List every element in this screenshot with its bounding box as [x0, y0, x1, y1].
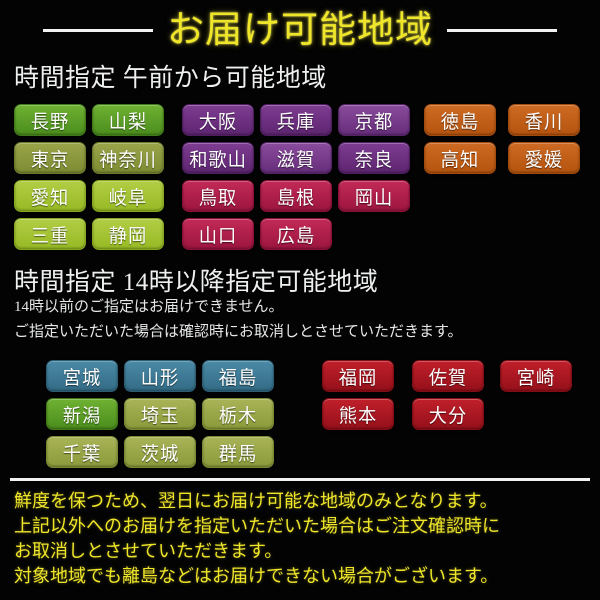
page-title: お届け可能地域 [167, 12, 433, 49]
prefecture-button[interactable]: 佐賀 [412, 360, 484, 392]
prefecture-button[interactable]: 高知 [424, 142, 496, 174]
prefecture-label: 大分 [429, 401, 467, 428]
prefecture-label: 神奈川 [99, 145, 157, 172]
prefecture-label: 山梨 [109, 107, 147, 134]
footer-line-1: 鮮度を保つため、翌日にお届け可能な地域のみとなります。 [14, 487, 498, 513]
prefecture-button[interactable]: 島根 [260, 180, 332, 212]
prefecture-label: 岡山 [355, 183, 393, 210]
prefecture-label: 新潟 [63, 401, 101, 428]
prefecture-button[interactable]: 奈良 [338, 142, 410, 174]
prefecture-button[interactable]: 山形 [124, 360, 196, 392]
footer-line-3: お取消しとさせていただきます。 [14, 537, 282, 563]
prefecture-button[interactable]: 兵庫 [260, 104, 332, 136]
prefecture-label: 栃木 [219, 401, 257, 428]
prefecture-label: 山口 [199, 221, 237, 248]
prefecture-button[interactable]: 大分 [412, 398, 484, 430]
prefecture-button[interactable]: 広島 [260, 218, 332, 250]
prefecture-label: 広島 [277, 221, 315, 248]
prefecture-label: 徳島 [441, 107, 479, 134]
prefecture-button[interactable]: 新潟 [46, 398, 118, 430]
prefecture-label: 高知 [441, 145, 479, 172]
prefecture-label: 長野 [31, 107, 69, 134]
prefecture-button[interactable]: 静岡 [92, 218, 164, 250]
prefecture-button[interactable]: 神奈川 [92, 142, 164, 174]
prefecture-button[interactable]: 京都 [338, 104, 410, 136]
prefecture-button[interactable]: 岐阜 [92, 180, 164, 212]
prefecture-label: 茨城 [141, 439, 179, 466]
section-2-note-2: ご指定いただいた場合は確認時にお取消しとさせていただきます。 [14, 320, 463, 341]
prefecture-label: 静岡 [109, 221, 147, 248]
prefecture-label: 宮城 [63, 363, 101, 390]
prefecture-label: 東京 [31, 145, 69, 172]
delivery-area-graphic: お届け可能地域 時間指定 午前から可能地域 時間指定 14時以降指定可能地域 1… [0, 0, 600, 600]
prefecture-button[interactable]: 宮城 [46, 360, 118, 392]
prefecture-label: 福岡 [339, 363, 377, 390]
prefecture-button[interactable]: 千葉 [46, 436, 118, 468]
prefecture-button[interactable]: 長野 [14, 104, 86, 136]
prefecture-label: 熊本 [339, 401, 377, 428]
prefecture-button[interactable]: 大阪 [182, 104, 254, 136]
prefecture-button[interactable]: 福岡 [322, 360, 394, 392]
prefecture-button[interactable]: 宮崎 [500, 360, 572, 392]
prefecture-label: 埼玉 [141, 401, 179, 428]
footer-line-2: 上記以外へのお届けを指定いただいた場合はご注文確認時に [14, 512, 500, 538]
prefecture-button[interactable]: 滋賀 [260, 142, 332, 174]
prefecture-button[interactable]: 徳島 [424, 104, 496, 136]
prefecture-button[interactable]: 鳥取 [182, 180, 254, 212]
prefecture-button[interactable]: 香川 [508, 104, 580, 136]
prefecture-button[interactable]: 愛媛 [508, 142, 580, 174]
prefecture-label: 香川 [525, 107, 563, 134]
prefecture-label: 宮崎 [517, 363, 555, 390]
prefecture-label: 和歌山 [189, 145, 247, 172]
prefecture-label: 奈良 [355, 145, 393, 172]
prefecture-label: 鳥取 [199, 183, 237, 210]
prefecture-label: 山形 [141, 363, 179, 390]
prefecture-button[interactable]: 岡山 [338, 180, 410, 212]
prefecture-button[interactable]: 和歌山 [182, 142, 254, 174]
prefecture-button[interactable]: 熊本 [322, 398, 394, 430]
prefecture-button[interactable]: 福島 [202, 360, 274, 392]
prefecture-label: 岐阜 [109, 183, 147, 210]
title-row: お届け可能地域 [0, 6, 600, 54]
prefecture-label: 群馬 [219, 439, 257, 466]
title-rule-right [447, 29, 557, 32]
footer-divider [10, 478, 590, 481]
prefecture-label: 三重 [31, 221, 69, 248]
prefecture-button[interactable]: 茨城 [124, 436, 196, 468]
prefecture-button[interactable]: 愛知 [14, 180, 86, 212]
prefecture-button[interactable]: 三重 [14, 218, 86, 250]
prefecture-label: 滋賀 [277, 145, 315, 172]
prefecture-label: 島根 [277, 183, 315, 210]
prefecture-label: 佐賀 [429, 363, 467, 390]
title-rule-left [43, 29, 153, 32]
prefecture-label: 福島 [219, 363, 257, 390]
prefecture-label: 千葉 [63, 439, 101, 466]
prefecture-label: 兵庫 [277, 107, 315, 134]
section-1-heading: 時間指定 午前から可能地域 [14, 58, 327, 94]
prefecture-label: 大阪 [199, 107, 237, 134]
prefecture-label: 京都 [355, 107, 393, 134]
prefecture-button[interactable]: 埼玉 [124, 398, 196, 430]
section-2-note-1: 14時以前のご指定はお届けできません。 [14, 295, 284, 316]
prefecture-button[interactable]: 山梨 [92, 104, 164, 136]
section-2-heading: 時間指定 14時以降指定可能地域 [14, 262, 378, 298]
prefecture-button[interactable]: 山口 [182, 218, 254, 250]
prefecture-button[interactable]: 東京 [14, 142, 86, 174]
prefecture-label: 愛知 [31, 183, 69, 210]
footer-line-4: 対象地域でも離島などはお届けできない場合がございます。 [14, 562, 498, 588]
prefecture-button[interactable]: 群馬 [202, 436, 274, 468]
prefecture-label: 愛媛 [525, 145, 563, 172]
prefecture-button[interactable]: 栃木 [202, 398, 274, 430]
